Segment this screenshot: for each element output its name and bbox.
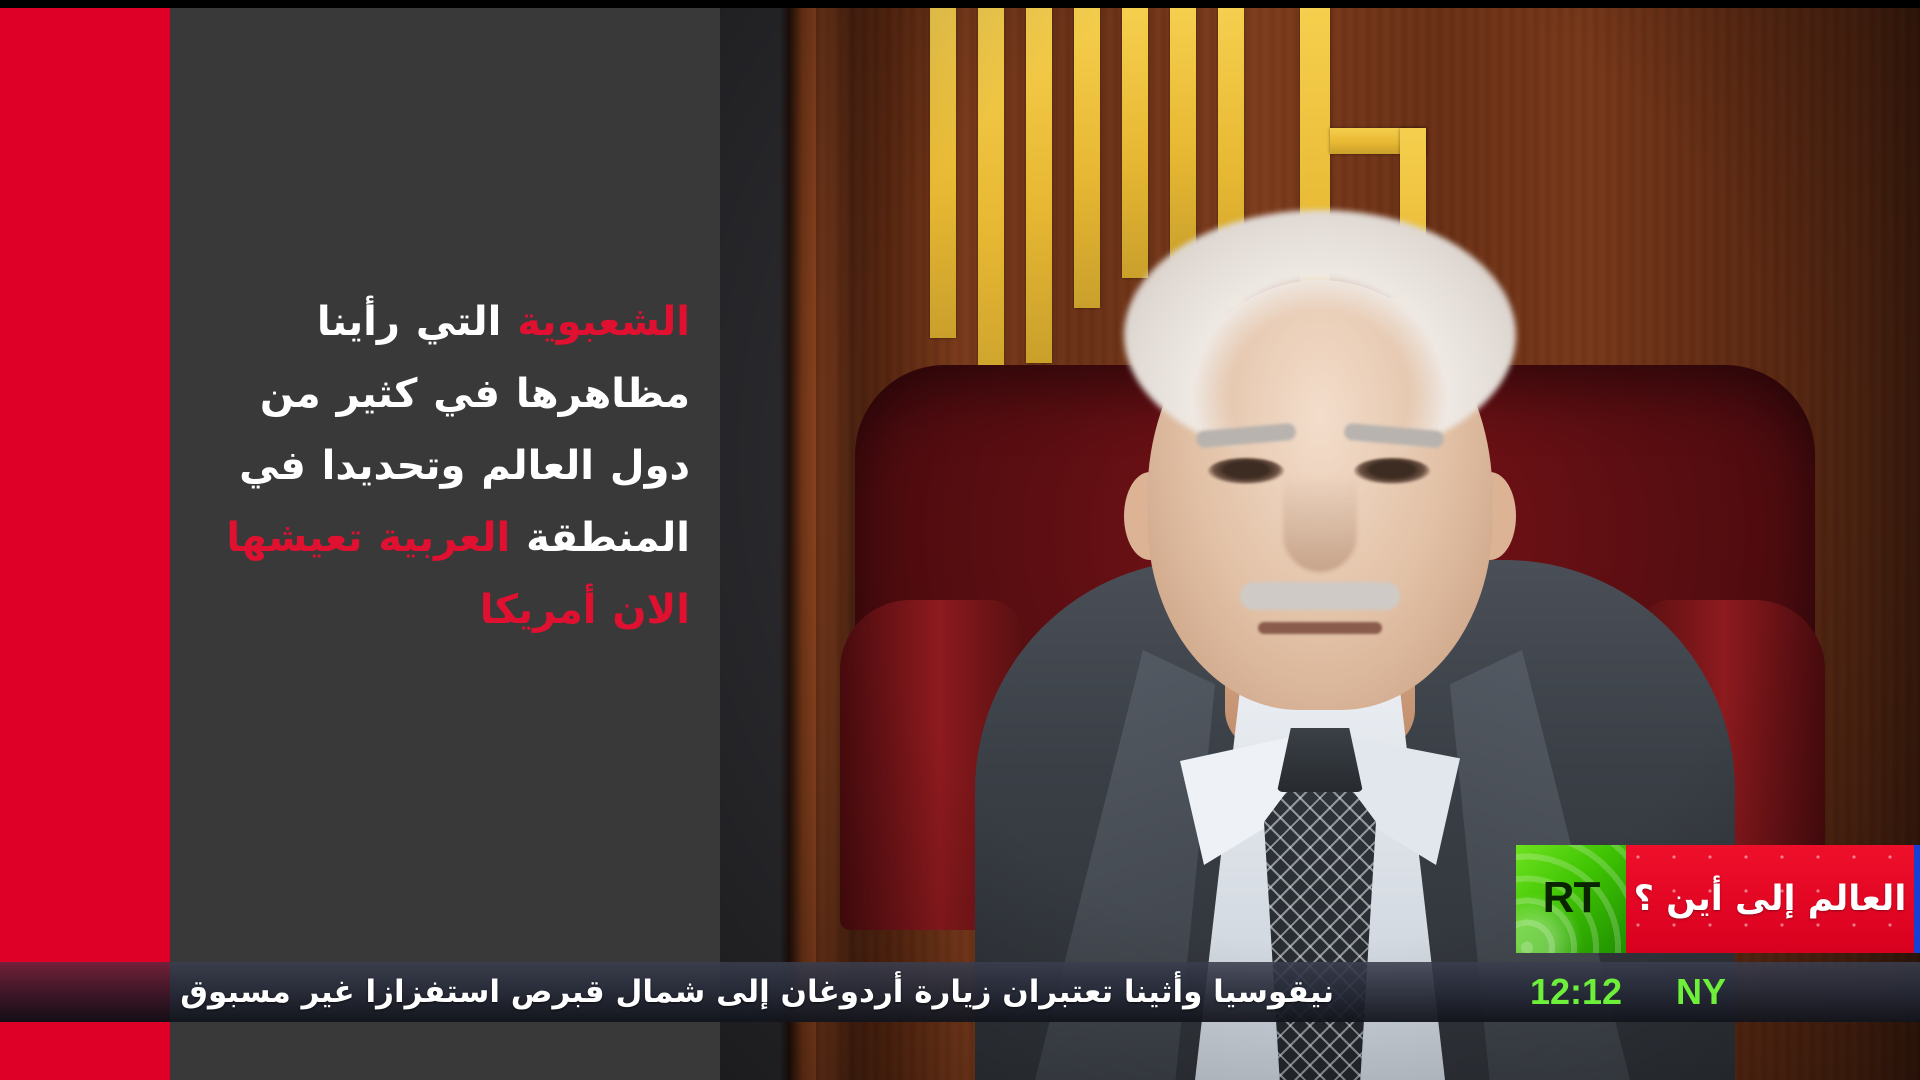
ticker-city-label: NY <box>1676 962 1726 1022</box>
guest-necktie-knot <box>1277 728 1363 792</box>
broadcast-screen: الشعبوية التي رأينا مظاهرها في كثير من د… <box>0 0 1920 1080</box>
quote-line-1-highlight: الشعبوية <box>517 299 690 345</box>
guest-eye-right <box>1354 458 1430 484</box>
quote-line-1-plain: التي رأينا <box>317 299 517 345</box>
left-red-stripe <box>0 8 170 1080</box>
show-title-banner: العالم إلى أين ؟ <box>1626 845 1914 953</box>
guest-mouth <box>1258 622 1382 634</box>
quote-line-3: دول العالم وتحديدا في <box>198 430 690 502</box>
gold-ornament-bar <box>930 8 956 338</box>
gold-ornament-bar <box>1026 8 1052 363</box>
guest-eye-left <box>1208 458 1284 484</box>
gold-ornament-bar <box>1170 8 1196 268</box>
gold-ornament-bar <box>1074 8 1100 308</box>
gold-ornament-bar <box>1122 8 1148 278</box>
quote-line-4-plain: المنطقة <box>526 515 690 561</box>
ticker-headline: نيقوسيا وأثينا تعتبران زيارة أردوغان إلى… <box>180 962 1334 1022</box>
top-black-bar <box>0 0 1920 8</box>
guest-hair <box>1124 210 1516 460</box>
quote-line-2: مظاهرها في كثير من <box>198 358 690 430</box>
quote-line-1: الشعبوية التي رأينا <box>198 286 690 358</box>
quote-panel: الشعبوية التي رأينا مظاهرها في كثير من د… <box>170 8 720 1080</box>
guest-nose <box>1283 476 1357 572</box>
quote-line-5: الان أمريكا <box>198 574 690 646</box>
gold-ornament-bar <box>978 8 1004 408</box>
guest-necktie <box>1264 780 1376 1080</box>
rt-logo-text: RT <box>1543 873 1600 923</box>
quote-text: الشعبوية التي رأينا مظاهرها في كثير من د… <box>198 286 690 646</box>
rt-channel-logo: RT <box>1516 845 1626 953</box>
quote-line-4-highlight: العربية تعيشها <box>226 515 526 561</box>
wood-panel-edge <box>720 8 816 1080</box>
ticker-red-segment <box>0 962 170 1022</box>
banner-blue-edge <box>1914 845 1920 953</box>
show-title-text: العالم إلى أين ؟ <box>1634 879 1907 919</box>
ticker-clock: 12:12 <box>1530 962 1622 1022</box>
quote-line-5-highlight: الان أمريكا <box>480 587 690 633</box>
quote-line-4: المنطقة العربية تعيشها <box>198 502 690 574</box>
news-ticker-bar: نيقوسيا وأثينا تعتبران زيارة أردوغان إلى… <box>0 962 1920 1022</box>
guest-mustache <box>1240 582 1400 610</box>
